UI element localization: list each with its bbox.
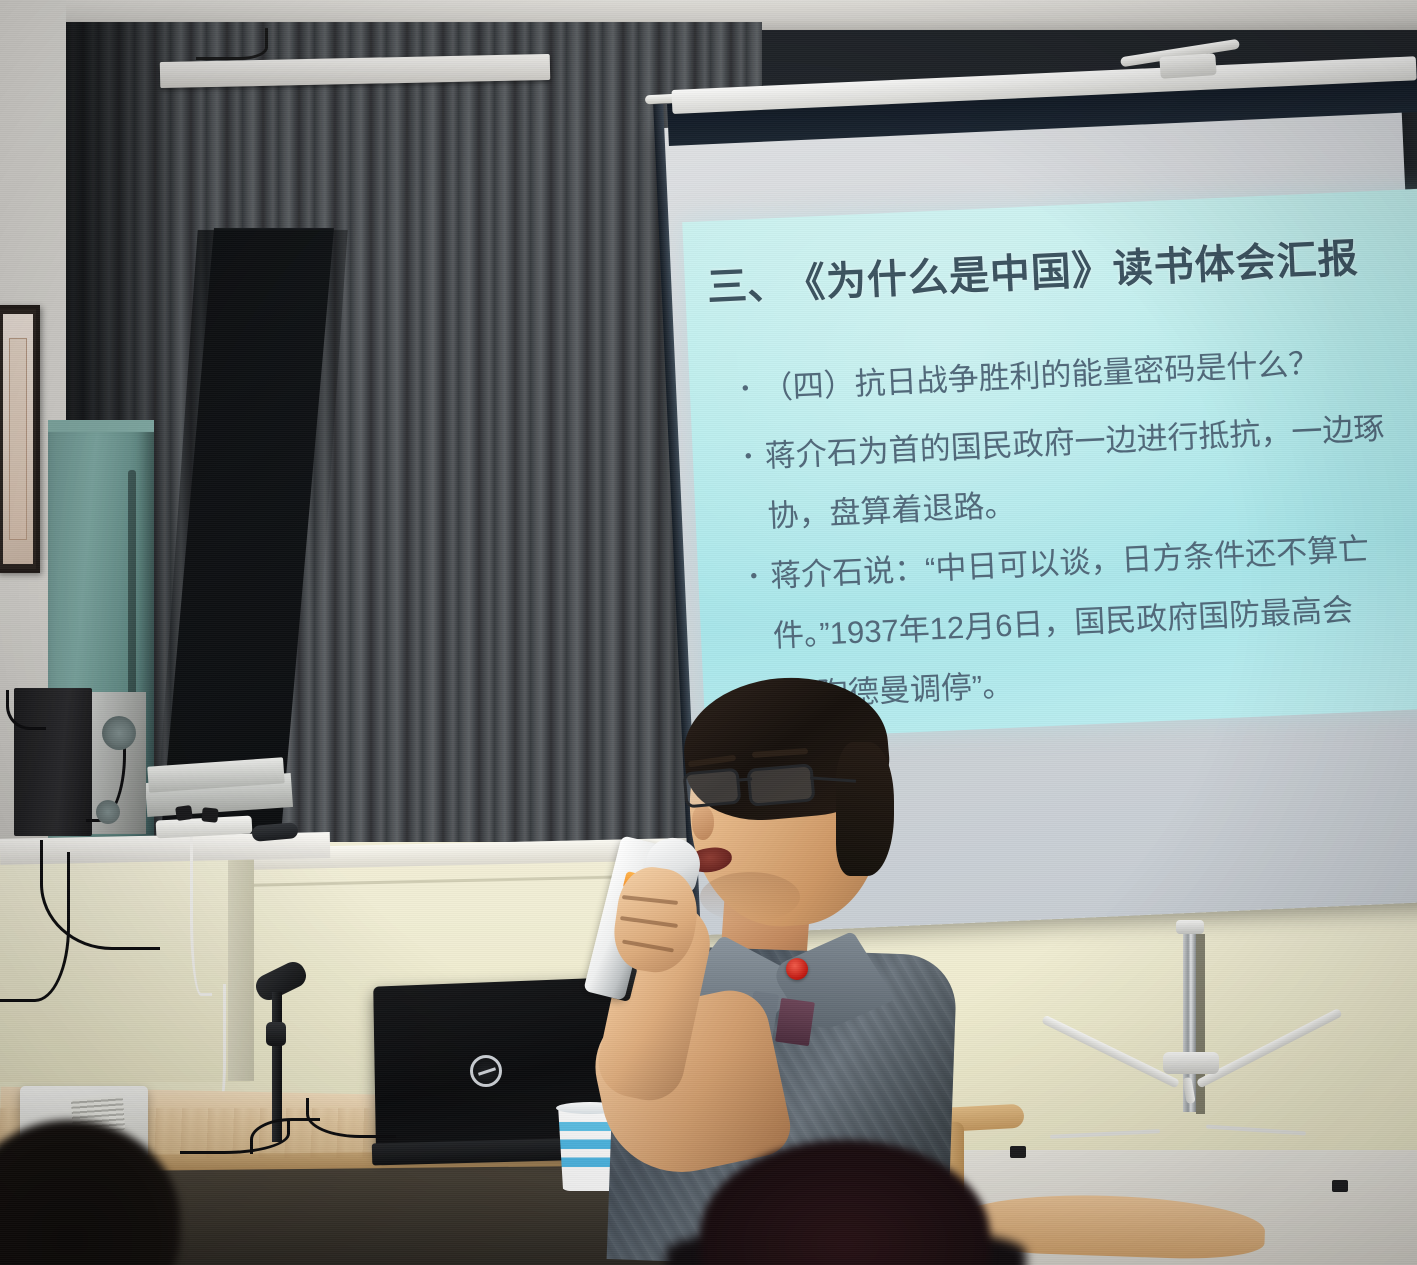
white-cable	[190, 836, 212, 996]
cabinet-top	[48, 420, 154, 432]
glasses-lens-left	[683, 768, 742, 809]
ceiling-cable	[196, 28, 268, 60]
tripod-foot-right	[1332, 1180, 1348, 1192]
nose	[692, 806, 714, 840]
party-pin-badge	[786, 958, 808, 980]
cheek-shadow	[700, 872, 800, 922]
dell-logo-icon	[470, 1055, 502, 1087]
framed-certificate	[0, 305, 40, 573]
pc-fan-icon	[102, 716, 136, 750]
pc-fan-icon	[96, 800, 120, 824]
tripod-hub	[1163, 1052, 1219, 1074]
slide-body: （四）抗日战争胜利的能量密码是什么？ 蒋介石为首的国民政府一边进行抵抗，一边琢 …	[739, 327, 1417, 727]
frame-inner	[9, 338, 27, 540]
speaker-hair-side	[836, 742, 894, 876]
mic-stand-joint	[266, 1022, 286, 1046]
shirt-pocket	[775, 998, 815, 1046]
tripod-cap	[1176, 920, 1204, 934]
glasses-lens-right	[746, 763, 815, 807]
slide-title-number: 三、	[706, 263, 788, 311]
slide-title: 三、《为什么是中国》读书体会汇报	[706, 223, 1408, 313]
power-plug	[201, 807, 218, 823]
photo-scene: 三、《为什么是中国》读书体会汇报 （四）抗日战争胜利的能量密码是什么？ 蒋介石为…	[0, 0, 1417, 1265]
projected-slide: 三、《为什么是中国》读书体会汇报 （四）抗日战争胜利的能量密码是什么？ 蒋介石为…	[682, 189, 1417, 742]
tripod-foot-left	[1010, 1146, 1026, 1158]
power-plug	[175, 805, 193, 821]
slide-title-text: 《为什么是中国》读书体会汇报	[804, 237, 1359, 306]
screen-bracket	[1159, 53, 1216, 79]
cable	[0, 852, 70, 1002]
frame-mat	[3, 314, 33, 564]
podium-side	[228, 856, 254, 1081]
